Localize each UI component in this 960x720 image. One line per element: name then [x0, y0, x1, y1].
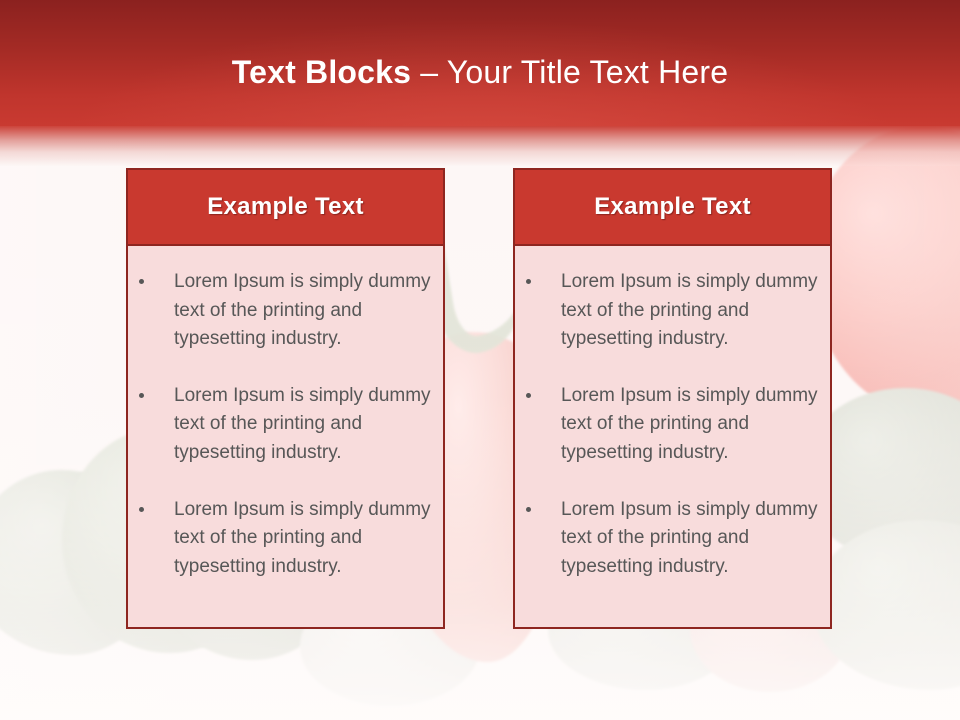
list-item[interactable]: Lorem Ipsum is simply dummy text of the … — [132, 496, 431, 582]
list-item-text: Lorem Ipsum is simply dummy text of the … — [561, 268, 818, 354]
list-item[interactable]: Lorem Ipsum is simply dummy text of the … — [132, 382, 431, 468]
bullet-dot-icon — [139, 393, 144, 398]
list-item-text: Lorem Ipsum is simply dummy text of the … — [174, 268, 431, 354]
text-block-right-body: Lorem Ipsum is simply dummy text of the … — [513, 246, 832, 629]
list-item-text: Lorem Ipsum is simply dummy text of the … — [561, 496, 818, 582]
page-title-bold: Text Blocks — [232, 54, 411, 90]
text-block-left-header-label: Example Text — [207, 193, 364, 221]
list-item-text: Lorem Ipsum is simply dummy text of the … — [561, 382, 818, 468]
bullet-dot-icon — [139, 507, 144, 512]
bullet-dot-icon — [139, 279, 144, 284]
text-block-right-header[interactable]: Example Text — [513, 168, 832, 246]
slide-canvas: Text Blocks – Your Title Text Here Examp… — [0, 0, 960, 720]
bullet-list-right: Lorem Ipsum is simply dummy text of the … — [519, 268, 818, 581]
list-item[interactable]: Lorem Ipsum is simply dummy text of the … — [519, 496, 818, 582]
text-block-left-body: Lorem Ipsum is simply dummy text of the … — [126, 246, 445, 629]
bullet-dot-icon — [526, 393, 531, 398]
list-item-text: Lorem Ipsum is simply dummy text of the … — [174, 496, 431, 582]
page-title: Text Blocks – Your Title Text Here — [0, 52, 960, 92]
text-block-right-header-label: Example Text — [594, 193, 751, 221]
bullet-dot-icon — [526, 279, 531, 284]
bullet-list-left: Lorem Ipsum is simply dummy text of the … — [132, 268, 431, 581]
list-item[interactable]: Lorem Ipsum is simply dummy text of the … — [519, 268, 818, 354]
bullet-dot-icon — [526, 507, 531, 512]
text-block-left: Example Text Lorem Ipsum is simply dummy… — [126, 168, 445, 629]
list-item[interactable]: Lorem Ipsum is simply dummy text of the … — [519, 382, 818, 468]
page-title-regular: – Your Title Text Here — [411, 54, 728, 90]
text-block-right: Example Text Lorem Ipsum is simply dummy… — [513, 168, 832, 629]
list-item[interactable]: Lorem Ipsum is simply dummy text of the … — [132, 268, 431, 354]
text-block-left-header[interactable]: Example Text — [126, 168, 445, 246]
list-item-text: Lorem Ipsum is simply dummy text of the … — [174, 382, 431, 468]
